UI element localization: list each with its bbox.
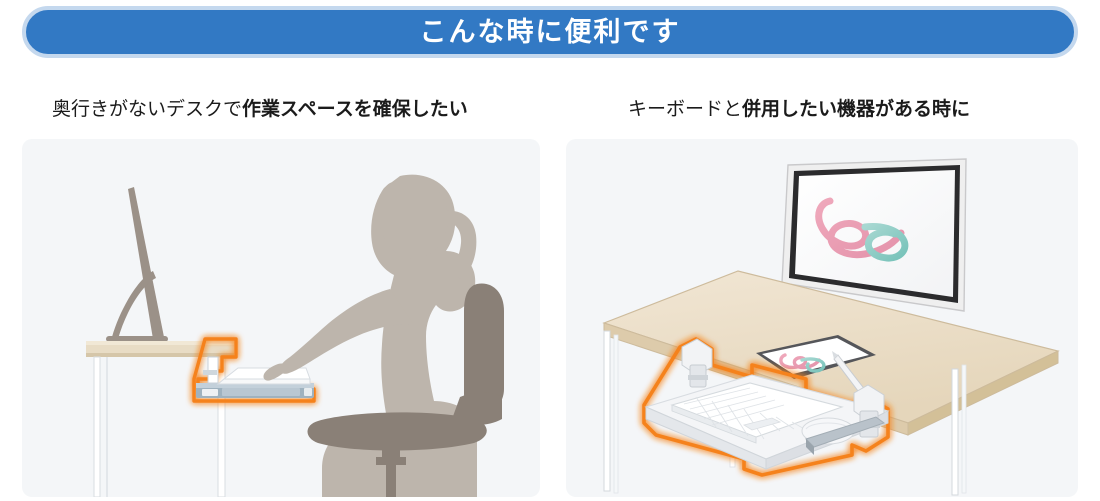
- caption-right-bold: 併用したい機器がある時に: [742, 99, 970, 120]
- perspective-desk-scene: [566, 139, 1078, 497]
- illustration-panel-left: [22, 139, 540, 497]
- header-banner-wrap: こんな時に便利です: [22, 6, 1078, 58]
- caption-left: 奥行きがないデスクで作業スペースを確保したい: [52, 100, 468, 119]
- header-banner: こんな時に便利です: [22, 6, 1078, 58]
- promo-page: こんな時に便利です 奥行きがないデスクで作業スペースを確保したい キーボードと併…: [0, 0, 1100, 501]
- caption-right-regular: キーボードと: [628, 99, 742, 120]
- banner-title: こんな時に便利です: [420, 19, 681, 46]
- monitor-side-profile: [106, 187, 168, 345]
- side-view-scene: [22, 139, 540, 497]
- caption-left-regular: 奥行きがないデスクで: [52, 99, 242, 120]
- caption-right: キーボードと併用したい機器がある時に: [628, 100, 970, 119]
- illustration-panel-right: [566, 139, 1078, 497]
- slide-rail-mechanism: [196, 383, 314, 398]
- desk-clamp-left: [682, 339, 712, 387]
- caption-left-bold: 作業スペースを確保したい: [242, 99, 468, 120]
